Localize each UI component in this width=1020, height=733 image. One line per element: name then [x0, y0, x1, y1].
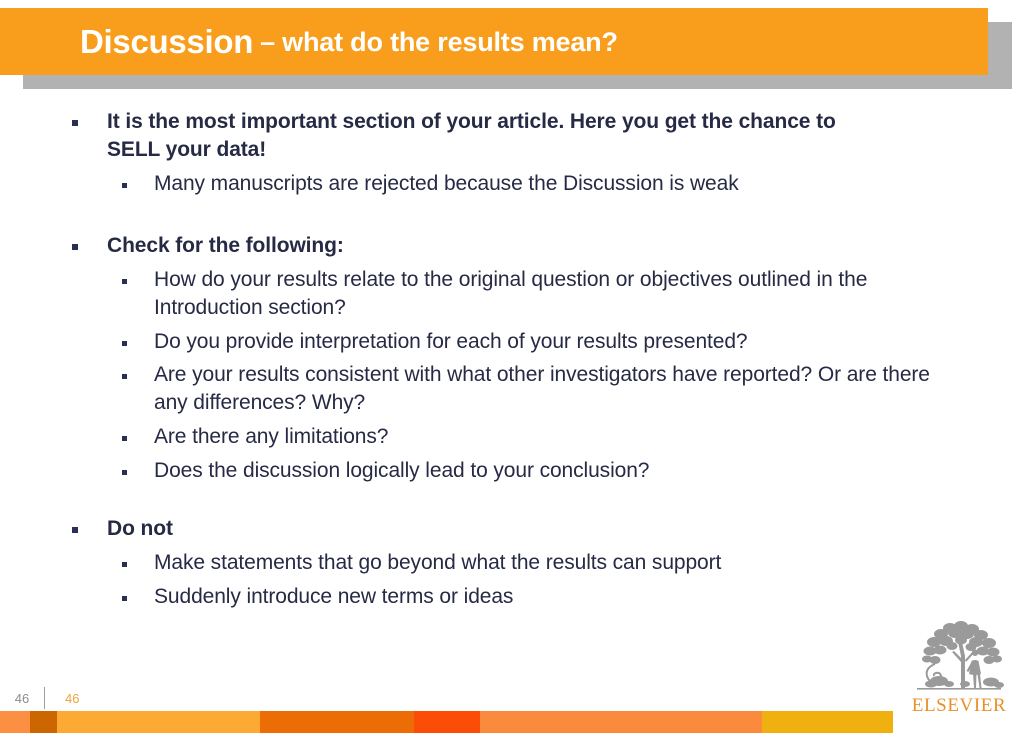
list-item-label: Do you provide interpretation for each o… — [154, 328, 954, 356]
color-bar-segment-2 — [30, 711, 57, 733]
color-bar-segment-4 — [260, 711, 414, 733]
square-bullet-icon — [122, 596, 127, 601]
color-bar-segment-1 — [0, 711, 30, 733]
square-bullet-icon — [122, 183, 127, 188]
list-item-label: Are your results consistent with what ot… — [154, 361, 954, 417]
square-bullet-icon — [122, 562, 127, 567]
list-item: Make statements that go beyond what the … — [0, 549, 1020, 577]
page-title: Discussion – what do the results mean? — [80, 8, 618, 75]
title-main-text: Discussion — [80, 23, 253, 61]
list-item-label: Does the discussion logically lead to yo… — [154, 457, 954, 485]
list-item: Does the discussion logically lead to yo… — [0, 457, 1020, 485]
list-item: Do you provide interpretation for each o… — [0, 328, 1020, 356]
list-item-label: Make statements that go beyond what the … — [154, 549, 954, 577]
list-item: Do not — [0, 515, 1020, 543]
color-bar-segment-6 — [480, 711, 762, 733]
list-item: Suddenly introduce new terms or ideas — [0, 583, 1020, 611]
square-bullet-icon — [122, 470, 127, 475]
color-bar-segment-7 — [762, 711, 893, 733]
list-item: Many manuscripts are rejected because th… — [0, 170, 1020, 198]
color-bar-segment-5 — [414, 711, 480, 733]
page-number-right: 46 — [45, 691, 79, 706]
list-item-label: Check for the following: — [107, 232, 867, 260]
list-item: Are there any limitations? — [0, 423, 1020, 451]
square-bullet-icon — [72, 527, 78, 533]
title-subtitle-text: – what do the results mean? — [253, 27, 618, 58]
list-item: How do your results relate to the origin… — [0, 266, 1020, 322]
page-number-left: 46 — [0, 691, 44, 706]
bullet-list: It is the most important section of your… — [0, 108, 1020, 611]
list-item: It is the most important section of your… — [0, 108, 1020, 164]
spacer — [0, 485, 1020, 515]
square-bullet-icon — [122, 374, 127, 379]
list-item-label: How do your results relate to the origin… — [154, 266, 954, 322]
list-item-label: Do not — [107, 515, 867, 543]
list-item: Check for the following: — [0, 232, 1020, 260]
slide: Discussion – what do the results mean? I… — [0, 0, 1020, 733]
elsevier-tree-emblem-icon — [905, 612, 1013, 698]
square-bullet-icon — [122, 279, 127, 284]
spacer — [0, 198, 1020, 232]
bottom-color-bar — [0, 711, 1020, 733]
square-bullet-icon — [122, 436, 127, 441]
list-item-label: Many manuscripts are rejected because th… — [154, 170, 954, 198]
square-bullet-icon — [122, 341, 127, 346]
slide-footer: 46 46 — [0, 686, 79, 710]
square-bullet-icon — [72, 244, 78, 250]
list-item-label: Are there any limitations? — [154, 423, 954, 451]
list-item-label: Suddenly introduce new terms or ideas — [154, 583, 954, 611]
elsevier-logo: ELSEVIER — [905, 612, 1013, 720]
color-bar-segment-8 — [893, 711, 1020, 733]
color-bar-segment-3 — [57, 711, 260, 733]
list-item: Are your results consistent with what ot… — [0, 361, 1020, 417]
square-bullet-icon — [72, 120, 78, 126]
list-item-label: It is the most important section of your… — [107, 108, 867, 164]
